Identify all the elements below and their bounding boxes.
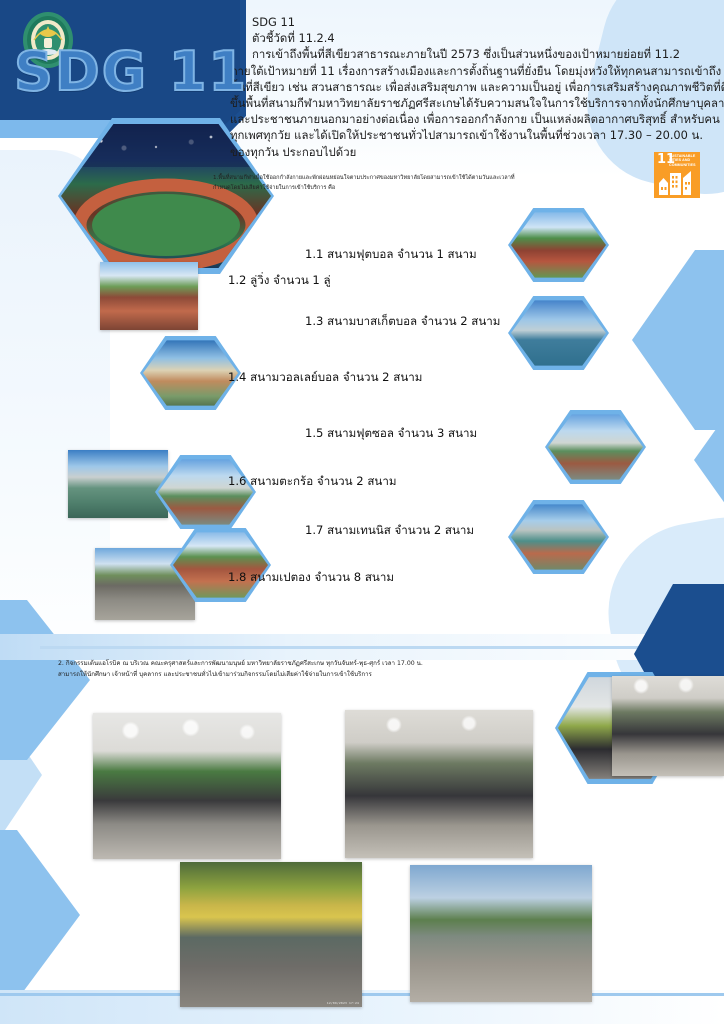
takraw-court-photo — [68, 450, 168, 518]
runner-hall-photo — [612, 676, 724, 776]
list-item-1-2: 1.2 ลู่วิ่ง จำนวน 1 ลู่ — [228, 272, 331, 290]
headline-line-3: การเข้าถึงพื้นที่สีเขียวสาธารณะภายในปี 2… — [230, 46, 700, 62]
headline-line-1: SDG 11 — [230, 14, 700, 30]
sdg-11-badge: 11 SUSTAINABLE CITIES AND COMMUNITIES — [654, 152, 700, 198]
section2-line-2: สามารถให้นักศึกษา เจ้าหน้าที่ บุคลากร แล… — [58, 669, 658, 680]
list-item-1-5: 1.5 สนามฟุตซอล จำนวน 3 สนาม — [305, 425, 477, 443]
aerobics-outdoor-photo: 12/09/2023 17:24 — [180, 862, 362, 1007]
headline-line-2: ตัวชี้วัดที่ 11.2.4 — [230, 30, 700, 46]
running-track-photo — [100, 262, 198, 330]
decor-chevron-right-upper — [632, 250, 724, 430]
headline-text: SDG 11 ตัวชี้วัดที่ 11.2.4 การเข้าถึงพื้… — [230, 14, 700, 160]
list-item-1-8: 1.8 สนามเปตอง จำนวน 8 สนาม — [228, 569, 394, 587]
section2-paragraph: 2. กิจกรรมเต้นแอโรบิค ณ บริเวณ คณะครุศาส… — [58, 658, 658, 680]
photo-timestamp: 12/09/2023 17:24 — [327, 1001, 359, 1005]
sdg-wordmark: SDG 11 — [14, 40, 248, 103]
footer-line — [0, 993, 724, 996]
section2-line-1: 2. กิจกรรมเต้นแอโรบิค ณ บริเวณ คณะครุศาส… — [58, 658, 658, 669]
headline-line-6: ขึ้นพื้นที่สนามกีฬามหาวิทยาลัยราชภัฏศรีส… — [230, 95, 700, 111]
aerobics-indoor-group-photo — [345, 710, 533, 858]
list-item-1-7: 1.7 สนามเทนนิส จำนวน 2 สนาม — [305, 522, 474, 540]
poster-page: SDG 11 SDG 11 ตัวชี้วัดที่ 11.2.4 การเข้… — [0, 0, 724, 1024]
headline-line-9: ของทุกวัน ประกอบไปด้วย — [230, 144, 700, 160]
running-road-group-photo — [410, 865, 592, 1002]
headline-line-8: ทุกเพศทุกวัย และได้เปิดให้ประชาชนทั่วไปส… — [230, 127, 700, 143]
aerobics-indoor-wide-photo — [93, 713, 281, 859]
headline-line-5: พื้นที่สีเขียว เช่น สวนสาธารณะ เพื่อส่งเ… — [230, 79, 700, 95]
headline-line-7: และประชาชนภายนอกมาอย่างต่อเนื่อง เพื่อกา… — [230, 111, 700, 127]
list-item-1-4: 1.4 สนามวอลเลย์บอล จำนวน 2 สนาม — [228, 369, 422, 387]
list-item-1-3: 1.3 สนามบาสเก็ตบอล จำนวน 2 สนาม — [305, 313, 500, 331]
section1-paragraph: 1.พื้นที่สนามกีฬาเพื่อใช้ออกกำลังกายและพ… — [213, 174, 613, 193]
section1-line-2: กำหนดโดยไม่เสียค่าใช้จ่ายในการเข้าใช้บริ… — [213, 184, 613, 194]
decor-chevron-left-lower — [0, 830, 80, 1000]
city-buildings-icon — [658, 169, 696, 198]
list-item-1-6: 1.6 สนามตะกร้อ จำนวน 2 สนาม — [228, 473, 397, 491]
sdg-badge-caption: SUSTAINABLE CITIES AND COMMUNITIES — [669, 154, 699, 167]
list-item-1-1: 1.1 สนามฟุตบอล จำนวน 1 สนาม — [305, 246, 477, 264]
section1-line-1: 1.พื้นที่สนามกีฬาเพื่อใช้ออกกำลังกายและพ… — [213, 174, 613, 184]
headline-line-4: ภายใต้เป้าหมายที่ 11 เรื่องการสร้างเมือง… — [230, 63, 700, 79]
divider-line — [40, 646, 724, 649]
